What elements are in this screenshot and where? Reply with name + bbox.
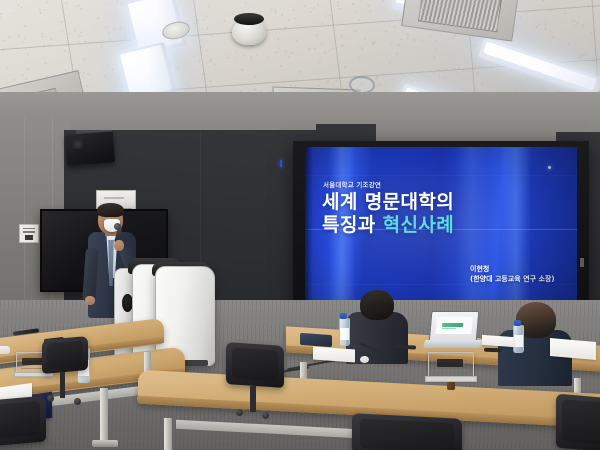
bottle-label <box>340 328 349 340</box>
chair-wheel <box>47 395 54 402</box>
equipment-label <box>104 197 124 199</box>
ceiling-speaker <box>65 131 115 165</box>
wall-sign-block <box>25 235 32 241</box>
presenter-hand <box>85 296 95 305</box>
paper-document <box>482 335 514 347</box>
chair-cushion <box>360 419 454 450</box>
desk-leg <box>100 388 108 444</box>
chair-back[interactable] <box>352 413 462 450</box>
desk-leg <box>164 418 172 450</box>
chair-cushion <box>47 340 83 369</box>
projection-screen: 서울대학교 기조강연 세계 명문대학의 특징과 혁신사례 이현청 (한양대 고등… <box>305 147 577 315</box>
laptop-keyboard-base[interactable] <box>423 340 484 348</box>
bottle-label <box>514 335 523 347</box>
bottle-cap <box>514 320 521 326</box>
chair-wheel <box>236 409 243 416</box>
chair-back[interactable] <box>42 336 88 374</box>
screen-side-button[interactable] <box>580 258 584 267</box>
chair-cushion <box>232 347 278 381</box>
placard-name-text <box>22 358 44 365</box>
tablet-device[interactable] <box>300 333 332 347</box>
bottle-cap <box>340 313 347 319</box>
smoke-detector <box>232 19 266 45</box>
screen-edge-shadow <box>305 147 313 315</box>
attendee-front-left-head <box>360 290 394 320</box>
vent-grill <box>418 0 501 32</box>
desk-cable-connector <box>484 348 502 353</box>
chair-wheel <box>74 398 81 405</box>
placard-line <box>435 370 468 371</box>
chair-back[interactable] <box>226 342 284 388</box>
laptop-chart-bar <box>442 323 463 327</box>
placard-name-text <box>437 359 463 367</box>
chair-cushion <box>0 401 40 439</box>
chair-post <box>250 386 256 412</box>
slide-vignette <box>305 147 577 315</box>
open-laptop-screen[interactable] <box>429 311 480 343</box>
wall-sign <box>19 224 39 243</box>
presenter-hair <box>97 203 124 217</box>
laptop-display-content <box>435 317 473 334</box>
water-bottle <box>513 325 524 353</box>
chair-cushion <box>562 399 600 445</box>
chair-back[interactable] <box>556 394 600 450</box>
chair-back[interactable] <box>0 395 46 446</box>
water-bottle <box>339 318 350 346</box>
wall-indicator-light <box>280 160 282 167</box>
desk-white-object <box>0 346 10 354</box>
wall-sign-line <box>23 231 36 233</box>
laptop-chart-bar <box>442 328 456 330</box>
presenter-hand <box>114 240 124 251</box>
desk-small-object <box>447 382 455 390</box>
lecture-hall-screenshot: 서울대학교 기조강연 세계 명문대학의 특징과 혁신사례 이현청 (한양대 고등… <box>0 0 600 450</box>
microphone-head <box>114 223 121 230</box>
chair-wheel <box>262 412 269 419</box>
desk-foot <box>92 440 118 447</box>
wall-sign-line <box>23 228 36 230</box>
chair-post <box>60 372 65 398</box>
cable-grommet <box>360 356 369 363</box>
